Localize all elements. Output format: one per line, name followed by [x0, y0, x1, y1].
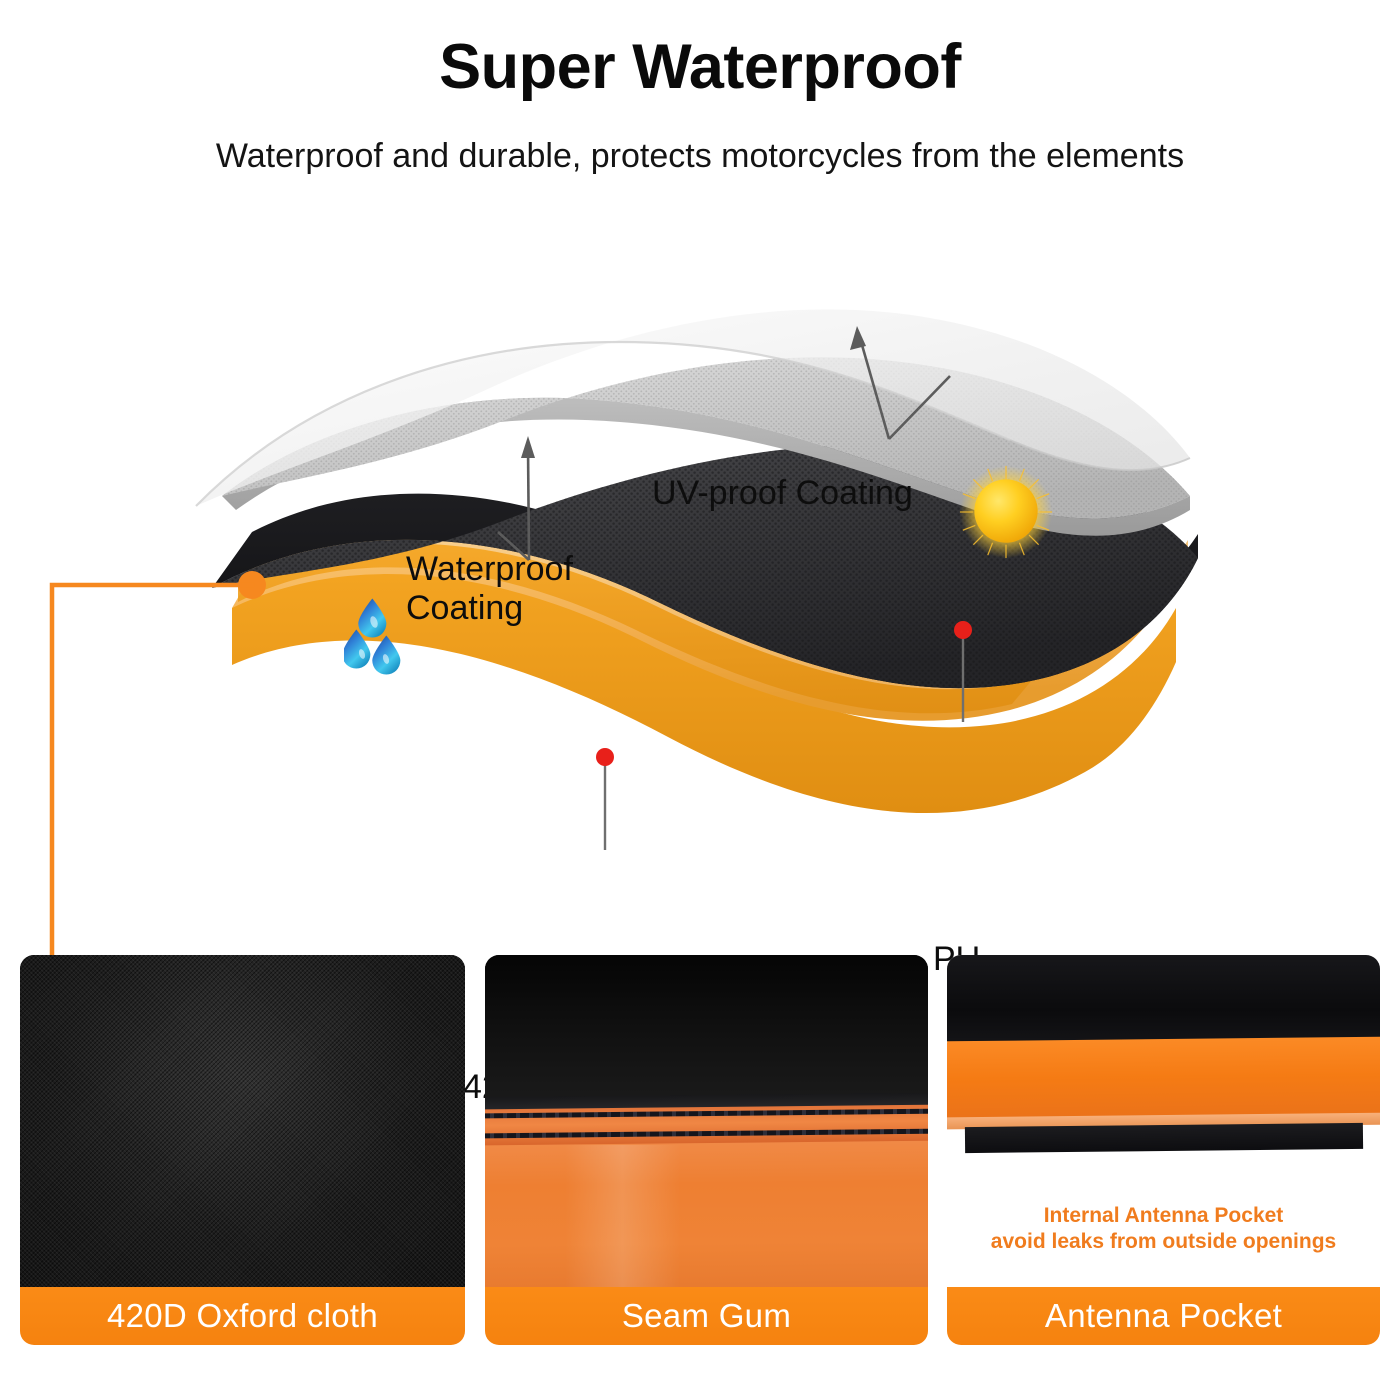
panel-antenna-pocket[interactable]: Internal Antenna Pocket avoid leaks from… [947, 955, 1380, 1345]
antenna-pocket-black-strip [965, 1123, 1364, 1153]
panel-seam-gum[interactable]: Seam Gum [485, 955, 928, 1345]
seam-gum-photo [485, 955, 928, 1293]
oxford-cloth-photo [20, 955, 465, 1293]
sun-icon [958, 464, 1054, 560]
product-infographic: Super Waterproof Waterproof and durable,… [0, 0, 1400, 1400]
panel-caption-oxford-cloth: 420D Oxford cloth [20, 1287, 465, 1345]
layer-diagram: UV-proof Coating Waterproof Coating 420D… [0, 210, 1400, 940]
antenna-pocket-note: Internal Antenna Pocket avoid leaks from… [947, 1203, 1380, 1256]
page-subtitle: Waterproof and durable, protects motorcy… [0, 136, 1400, 177]
panel-caption-seam-gum: Seam Gum [485, 1287, 928, 1345]
oxford-red-dot [596, 748, 614, 766]
feature-panels: 420D Oxford cloth Seam Gum Interna [0, 950, 1400, 1400]
layer-diagram-illustration [0, 210, 1400, 940]
label-uv-proof-coating: UV-proof Coating [652, 474, 913, 513]
page-title: Super Waterproof [0, 34, 1400, 100]
seam-gum-sheen [565, 1145, 680, 1293]
panel-caption-antenna-pocket: Antenna Pocket [947, 1287, 1380, 1345]
seam-gum-orange-fabric [485, 1139, 928, 1293]
water-droplets-icon [344, 598, 420, 690]
pu-red-dot [954, 621, 972, 639]
seam-gum-black-fabric [485, 955, 928, 1101]
label-waterproof-coating: Waterproof Coating [406, 550, 573, 628]
panel-oxford-cloth[interactable]: 420D Oxford cloth [20, 955, 465, 1345]
oxford-orange-dot [238, 571, 266, 599]
waterproof-arrowhead [521, 436, 535, 458]
antenna-pocket-orange-lining [947, 1037, 1380, 1126]
antenna-pocket-black-fabric [947, 955, 1380, 1047]
antenna-pocket-photo: Internal Antenna Pocket avoid leaks from… [947, 955, 1380, 1293]
